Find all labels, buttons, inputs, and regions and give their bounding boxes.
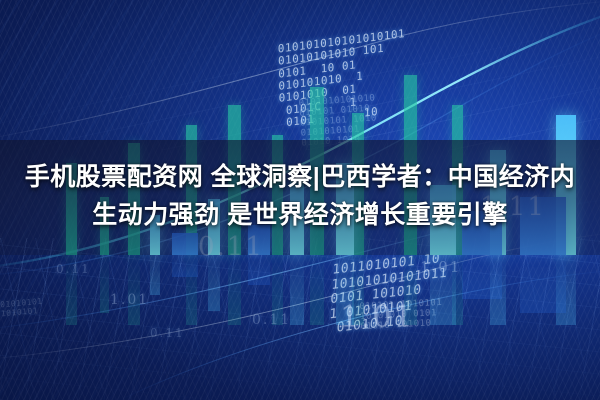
banner-headline: 手机股票配资网 全球洞察|巴西学者：中国经济内 生动力强劲 是世界经济增长重要引… [0, 158, 600, 234]
chart-bar-reflection-teal-columns-2 [128, 255, 140, 325]
headline-line-1: 手机股票配资网 全球洞察|巴西学者：中国经济内 [6, 158, 594, 196]
chart-bar-reflection-teal-columns-4 [228, 255, 241, 325]
chart-bar-reflection-cyan-highlights-4 [430, 255, 456, 325]
chart-bar-reflection-teal-columns-5 [272, 255, 283, 325]
chart-bar-reflection-blue-columns-3 [520, 255, 566, 313]
chart-bar-reflection-blue-columns-2 [462, 255, 502, 299]
chart-bar-reflection-cyan-highlights-3 [336, 255, 354, 325]
chart-bar-reflection-blue-columns-0 [172, 255, 198, 277]
chart-bar-reflection-teal-columns-6 [310, 255, 324, 325]
chart-bar-reflection-teal-columns-1 [100, 255, 109, 313]
chart-bar-reflection-teal-columns-0 [66, 255, 77, 325]
chart-bar-reflection-cyan-highlights-0 [150, 255, 160, 295]
chart-bar-reflection-cyan-highlights-1 [208, 255, 220, 311]
headline-line-2: 生动力强劲 是世界经济增长重要引擎 [6, 196, 594, 234]
chart-bar-reflection-blue-columns-1 [248, 255, 270, 285]
news-banner-image: 010101010101010101 01010101010 101 0101 … [0, 0, 600, 400]
chart-bar-reflection-teal-columns-8 [404, 255, 417, 325]
chart-bar-reflection-cyan-highlights-2 [290, 255, 304, 325]
